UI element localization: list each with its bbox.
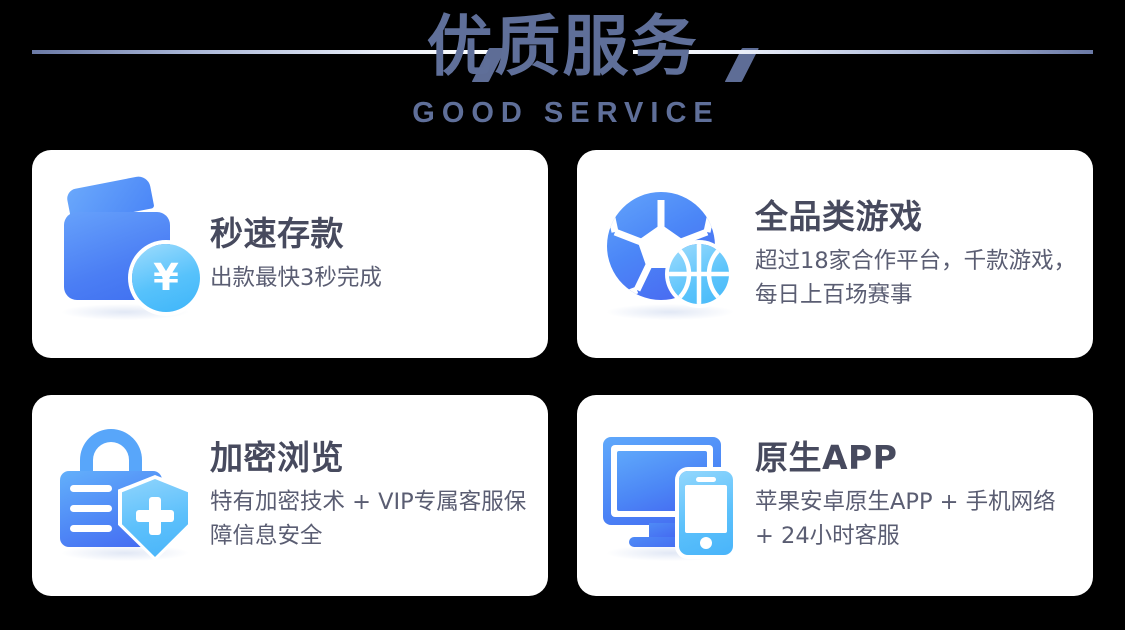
card-title: 秒速存款 xyxy=(210,214,534,254)
lock-stripe-icon xyxy=(70,505,112,512)
feature-card-native-app[interactable]: 原生APP 苹果安卓原生APP + 手机网络 + 24小时客服 xyxy=(577,395,1093,596)
icon-shadow xyxy=(62,545,188,561)
icon-shadow xyxy=(607,304,733,320)
basketball-lines-icon xyxy=(669,244,729,304)
basketball-icon xyxy=(669,244,729,304)
lock-stripe-icon xyxy=(70,525,112,532)
card-title: 加密浏览 xyxy=(210,438,534,478)
feature-card-grid: ¥ 秒速存款 出款最快3秒完成 xyxy=(32,150,1093,596)
page-title: 优质服务 xyxy=(0,2,1125,92)
card-description: 特有加密技术 + VIP专属客服保障信息安全 xyxy=(210,485,534,553)
card-title: 全品类游戏 xyxy=(755,197,1079,237)
page-subtitle: GOOD SERVICE xyxy=(0,96,1125,130)
feature-card-games[interactable]: 全品类游戏 超过18家合作平台，千款游戏，每日上百场赛事 xyxy=(577,150,1093,358)
soccer-basketball-icon xyxy=(599,182,749,327)
lock-stripe-icon xyxy=(70,485,112,492)
feature-card-deposit[interactable]: ¥ 秒速存款 出款最快3秒完成 xyxy=(32,150,548,358)
card-text-block: 加密浏览 特有加密技术 + VIP专属客服保障信息安全 xyxy=(210,438,548,553)
phone-speaker-icon xyxy=(696,477,716,482)
card-description: 超过18家合作平台，千款游戏，每日上百场赛事 xyxy=(755,244,1079,312)
card-description: 苹果安卓原生APP + 手机网络 + 24小时客服 xyxy=(755,485,1079,553)
card-description: 出款最快3秒完成 xyxy=(210,261,534,295)
header: 优质服务 GOOD SERVICE xyxy=(0,0,1125,142)
card-text-block: 秒速存款 出款最快3秒完成 xyxy=(210,214,548,295)
card-text-block: 全品类游戏 超过18家合作平台，千款游戏，每日上百场赛事 xyxy=(755,197,1093,312)
card-text-block: 原生APP 苹果安卓原生APP + 手机网络 + 24小时客服 xyxy=(755,438,1093,553)
wallet-coin-icon: ¥ xyxy=(54,182,204,327)
card-title: 原生APP xyxy=(755,438,1079,478)
yen-symbol-icon: ¥ xyxy=(132,244,200,312)
phone-screen-icon xyxy=(685,485,727,533)
phone-home-button-icon xyxy=(700,537,712,549)
monitor-phone-icon xyxy=(599,423,749,568)
feature-card-encryption[interactable]: 加密浏览 特有加密技术 + VIP专属客服保障信息安全 xyxy=(32,395,548,596)
promo-banner: 优质服务 GOOD SERVICE ¥ 秒速存款 出款最快3秒完成 xyxy=(0,0,1125,630)
cross-horizontal-icon xyxy=(136,510,174,522)
lock-shield-icon xyxy=(54,423,204,568)
